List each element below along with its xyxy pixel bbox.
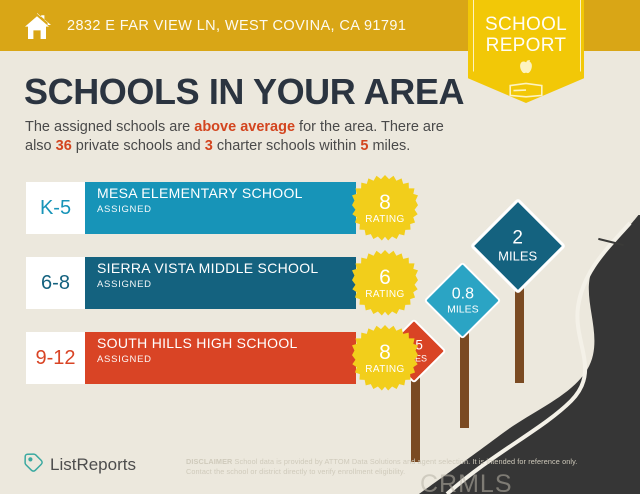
sign-distance-unit: MILES — [447, 304, 479, 315]
school-report-page: 2832 E FAR VIEW LN, WEST COVINA, CA 9179… — [0, 0, 640, 494]
sign-distance-value: 0.8 — [447, 286, 479, 302]
school-grade-range: 6-8 — [26, 257, 85, 309]
school-row[interactable]: 6-8 SIERRA VISTA MIDDLE SCHOOL ASSIGNED … — [26, 257, 356, 309]
school-grade-range: 9-12 — [26, 332, 85, 384]
school-status-badge: ASSIGNED — [97, 204, 356, 215]
sign-text: 2 MILES — [498, 229, 537, 263]
school-report-badge: SCHOOL REPORT — [468, 0, 584, 103]
school-rating-label: RATING — [365, 289, 404, 300]
school-name: SOUTH HILLS HIGH SCHOOL — [97, 336, 356, 352]
listreports-logo-text: ListReports — [50, 455, 136, 475]
school-rating-value: 8 — [379, 192, 391, 213]
badge-title-line1: SCHOOL — [468, 14, 584, 35]
sign-text: 0.8 MILES — [447, 286, 479, 315]
school-row[interactable]: K-5 MESA ELEMENTARY SCHOOL ASSIGNED 8 RA… — [26, 182, 356, 234]
subtitle-part-4: charter schools within — [213, 138, 360, 154]
sign-post — [460, 323, 469, 428]
subtitle-part-5: miles. — [368, 138, 410, 154]
school-name: SIERRA VISTA MIDDLE SCHOOL — [97, 261, 356, 277]
page-subtitle: The assigned schools are above average f… — [25, 118, 455, 156]
home-icon — [22, 12, 52, 40]
listreports-logo[interactable]: ListReports — [24, 453, 136, 477]
page-title: SCHOOLS IN YOUR AREA — [24, 71, 464, 113]
school-grade-range: K-5 — [26, 182, 85, 234]
crmls-watermark: CRMLS — [420, 470, 513, 494]
school-row[interactable]: 9-12 SOUTH HILLS HIGH SCHOOL ASSIGNED 8 … — [26, 332, 356, 384]
property-address: 2832 E FAR VIEW LN, WEST COVINA, CA 9179… — [67, 18, 406, 34]
school-rating-value: 6 — [379, 267, 391, 288]
school-info-bar: SOUTH HILLS HIGH SCHOOL ASSIGNED — [85, 332, 356, 384]
subtitle-highlight-rating: above average — [194, 119, 295, 135]
assigned-schools-list: K-5 MESA ELEMENTARY SCHOOL ASSIGNED 8 RA… — [26, 182, 356, 407]
school-name: MESA ELEMENTARY SCHOOL — [97, 186, 356, 202]
school-info-bar: SIERRA VISTA MIDDLE SCHOOL ASSIGNED — [85, 257, 356, 309]
school-status-badge: ASSIGNED — [97, 279, 356, 290]
sign-distance-unit: MILES — [498, 250, 537, 263]
listreports-house-icon — [24, 453, 43, 477]
book-icon — [509, 82, 543, 103]
disclaimer-body: School data is provided by ATTOM Data So… — [186, 457, 577, 476]
badge-title-line2: REPORT — [468, 35, 584, 56]
subtitle-part-3: private schools and — [72, 138, 205, 154]
sign-post — [411, 370, 420, 462]
badge-title: SCHOOL REPORT — [468, 14, 584, 56]
apple-icon — [517, 58, 535, 80]
sign-distance-value: 2 — [498, 229, 537, 248]
school-rating-label: RATING — [365, 364, 404, 375]
school-rating-value: 8 — [379, 342, 391, 363]
disclaimer-text: DISCLAIMER School data is provided by AT… — [186, 457, 586, 476]
badge-icons — [468, 58, 584, 103]
header-content: 2832 E FAR VIEW LN, WEST COVINA, CA 9179… — [22, 0, 406, 51]
school-info-bar: MESA ELEMENTARY SCHOOL ASSIGNED — [85, 182, 356, 234]
subtitle-highlight-private-count: 36 — [56, 138, 72, 154]
subtitle-part-1: The assigned schools are — [25, 119, 194, 135]
subtitle-highlight-charter-count: 3 — [205, 138, 213, 154]
disclaimer-label: DISCLAIMER — [186, 457, 232, 466]
school-rating-label: RATING — [365, 214, 404, 225]
school-status-badge: ASSIGNED — [97, 354, 356, 365]
